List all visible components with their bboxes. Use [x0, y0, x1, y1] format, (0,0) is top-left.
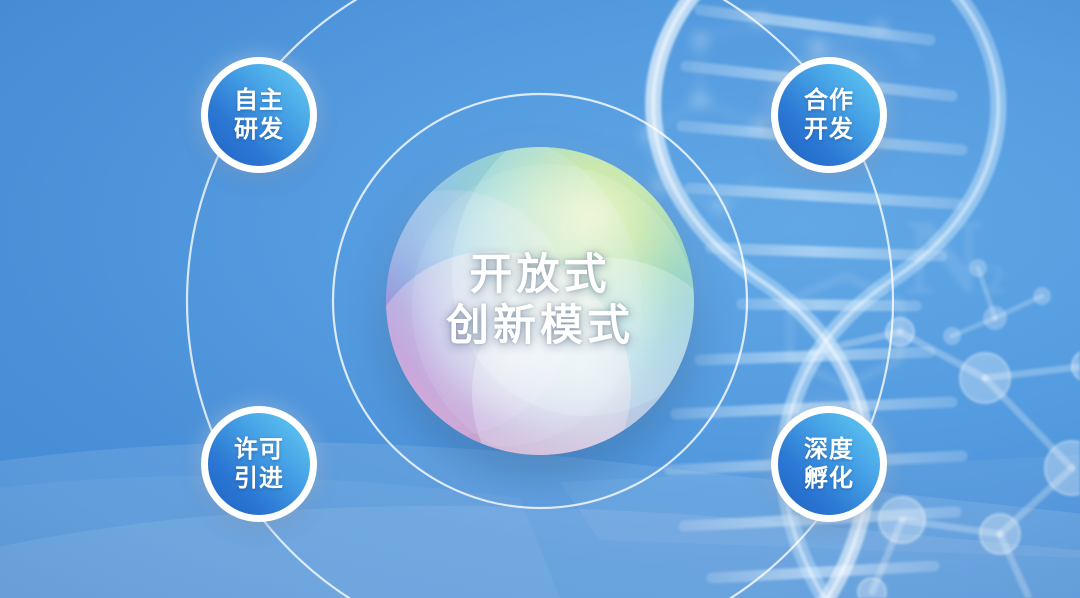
vignette-overlay — [0, 0, 1080, 598]
poster-canvas: N2 开放式 创新模式 自主 研发 — [0, 0, 1080, 598]
